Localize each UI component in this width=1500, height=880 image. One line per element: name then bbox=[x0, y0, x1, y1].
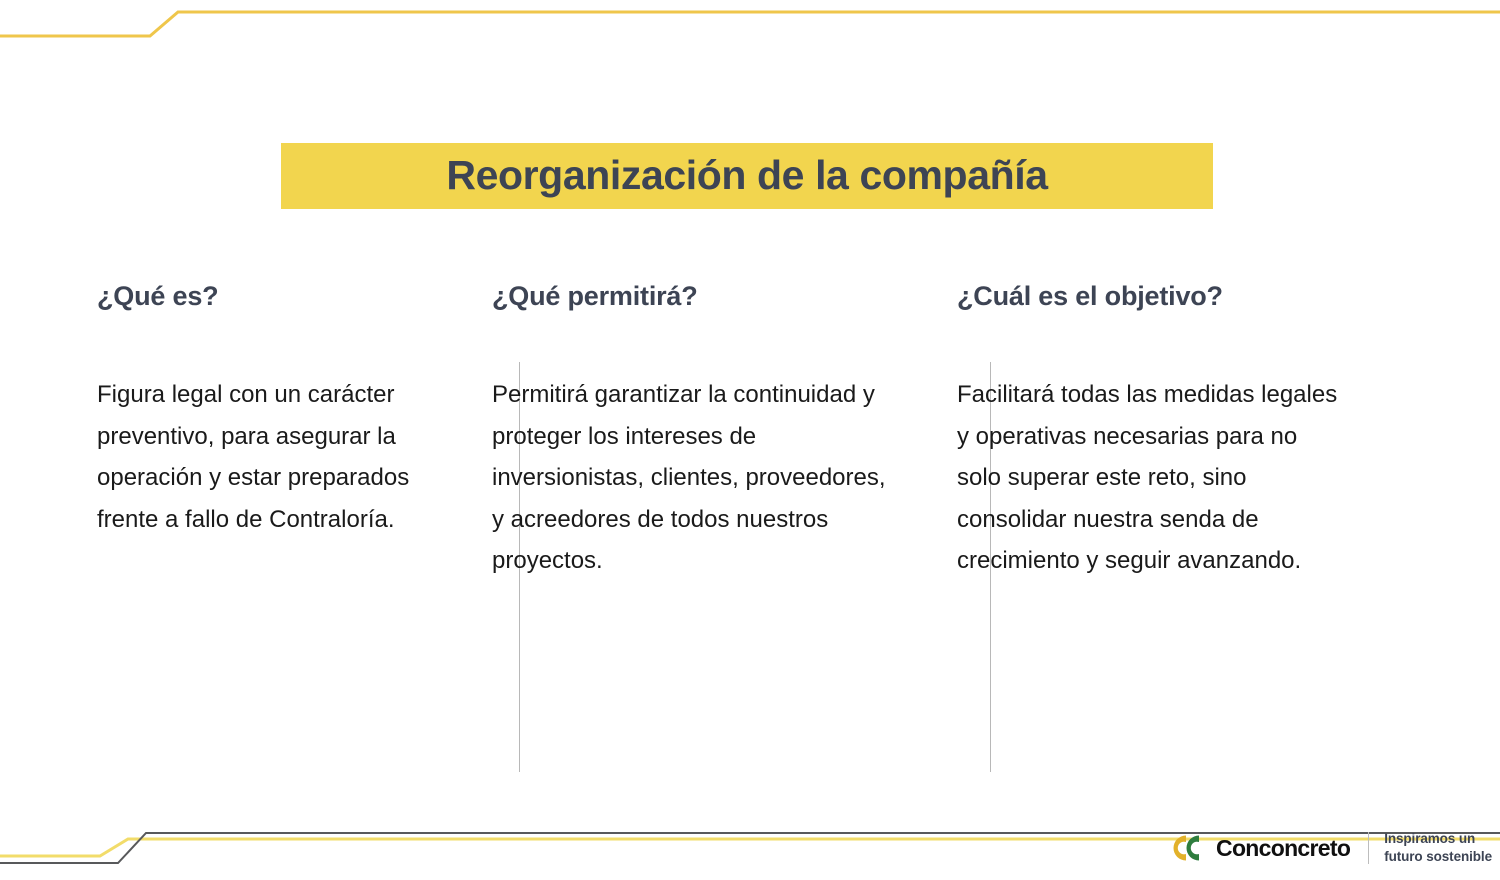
column-body-1: Figura legal con un carácter preventivo,… bbox=[97, 374, 472, 540]
page-title: Reorganización de la compañía bbox=[446, 155, 1047, 198]
logo-tagline: Inspiramos un futuro sostenible bbox=[1384, 830, 1492, 866]
column-cual-es-el-objetivo: ¿Cuál es el objetivo? Facilitará todas l… bbox=[910, 280, 1380, 780]
title-banner: Reorganización de la compañía bbox=[281, 143, 1213, 209]
column-heading-2: ¿Qué permitirá? bbox=[492, 280, 910, 312]
footer-logo-block: Conconcreto Inspiramos un futuro sosteni… bbox=[1169, 828, 1492, 868]
top-line-path bbox=[0, 12, 1500, 36]
slide: Reorganización de la compañía ¿Qué es? F… bbox=[0, 0, 1500, 880]
conconcreto-logo-icon bbox=[1169, 833, 1211, 863]
top-decoration-line bbox=[0, 0, 1500, 60]
column-body-3: Facilitará todas las medidas legales y o… bbox=[957, 374, 1347, 582]
column-que-es: ¿Qué es? Figura legal con un carácter pr… bbox=[0, 280, 440, 780]
column-heading-1: ¿Qué es? bbox=[97, 280, 440, 312]
column-body-2: Permitirá garantizar la continuidad y pr… bbox=[492, 374, 892, 582]
column-heading-3: ¿Cuál es el objetivo? bbox=[957, 280, 1380, 312]
content-columns: ¿Qué es? Figura legal con un carácter pr… bbox=[0, 280, 1500, 780]
logo-c-gold bbox=[1174, 836, 1187, 861]
logo-wordmark: Conconcreto bbox=[1216, 837, 1350, 860]
logo-separator bbox=[1368, 832, 1369, 864]
logo-c-green bbox=[1187, 836, 1200, 861]
column-que-permitira: ¿Qué permitirá? Permitirá garantizar la … bbox=[440, 280, 910, 780]
